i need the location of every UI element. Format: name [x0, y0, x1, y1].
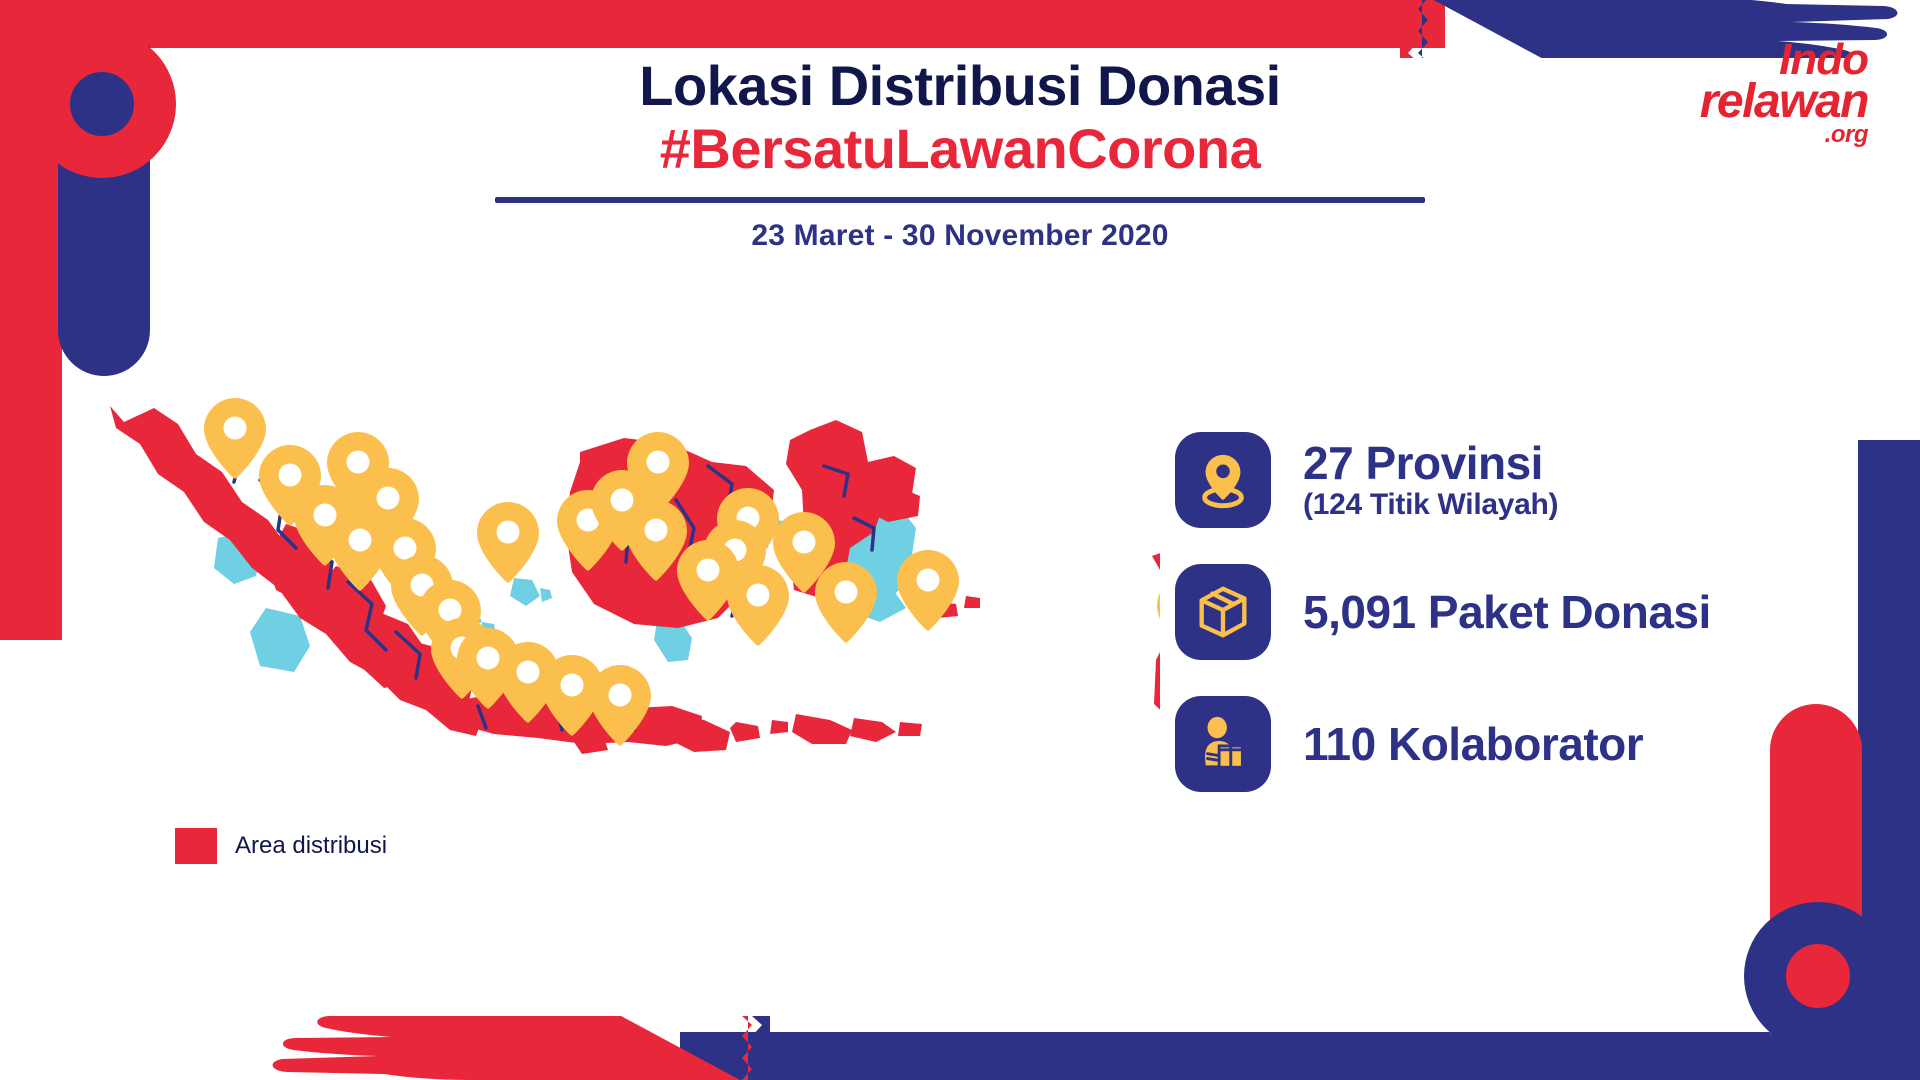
- logo-line-indo: Indo: [1648, 40, 1868, 80]
- header: Lokasi Distribusi Donasi #BersatuLawanCo…: [0, 56, 1920, 253]
- stat-text-provinsi: 27 Provinsi (124 Titik Wilayah): [1303, 439, 1558, 521]
- stat-value-provinsi: 27 Provinsi: [1303, 439, 1558, 487]
- map-marker[interactable]: [815, 562, 877, 643]
- page-title: Lokasi Distribusi Donasi: [0, 56, 1920, 116]
- stat-text-kolaborator: 110 Kolaborator: [1303, 720, 1643, 768]
- title-divider: [495, 197, 1425, 203]
- stat-value-paket-donasi: 5,091 Paket Donasi: [1303, 588, 1711, 636]
- stat-text-paket-donasi: 5,091 Paket Donasi: [1303, 588, 1711, 636]
- logo-line-relawan: relawan: [1648, 80, 1868, 124]
- legend-swatch-distribution: [175, 828, 217, 864]
- bottom-right-navy-ring: [1744, 902, 1892, 1050]
- infographic-canvas: Lokasi Distribusi Donasi #BersatuLawanCo…: [0, 0, 1920, 1080]
- map-marker[interactable]: [477, 502, 539, 583]
- map-pin-icon: [1175, 432, 1271, 528]
- statistics-panel: 27 Provinsi (124 Titik Wilayah) 5,091 Pa…: [1175, 432, 1835, 828]
- red-helping-hand-icon: [250, 1016, 770, 1080]
- person-carrying-box-icon: [1175, 696, 1271, 792]
- stat-sub-provinsi: (124 Titik Wilayah): [1303, 488, 1558, 521]
- indonesia-distribution-map: [60, 370, 1160, 790]
- stat-row-provinsi: 27 Provinsi (124 Titik Wilayah): [1175, 432, 1835, 528]
- map-marker-group: [204, 398, 1160, 746]
- legend-label: Area distribusi: [235, 832, 387, 860]
- top-left-red-horizontal-bar: [0, 0, 1445, 48]
- map-marker[interactable]: [897, 550, 959, 631]
- campaign-hashtag: #BersatuLawanCorona: [0, 118, 1920, 181]
- stat-row-paket-donasi: 5,091 Paket Donasi: [1175, 564, 1835, 660]
- date-range: 23 Maret - 30 November 2020: [0, 219, 1920, 253]
- stat-row-kolaborator: 110 Kolaborator: [1175, 696, 1835, 792]
- stat-value-kolaborator: 110 Kolaborator: [1303, 720, 1643, 768]
- bottom-right-navy-horizontal-bar: [680, 1032, 1920, 1080]
- map-legend: Area distribusi: [175, 828, 387, 864]
- map-marker[interactable]: [1157, 575, 1160, 656]
- package-box-icon: [1175, 564, 1271, 660]
- map-marker[interactable]: [727, 565, 789, 646]
- indorelawan-logo[interactable]: Indo relawan .org: [1648, 40, 1868, 156]
